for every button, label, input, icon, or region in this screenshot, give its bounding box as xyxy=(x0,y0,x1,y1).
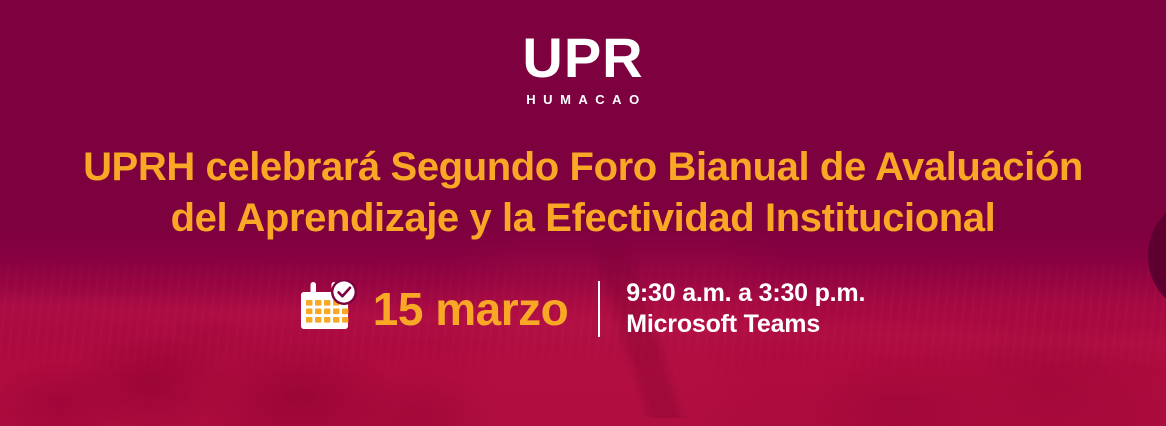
logo-campus-name: HUMACAO xyxy=(0,93,1166,106)
event-when-block: 9:30 a.m. a 3:30 p.m. Microsoft Teams xyxy=(626,278,865,339)
page-title: UPRH celebrará Segundo Foro Bianual de A… xyxy=(0,142,1166,244)
event-banner: UPR HUMACAO UPRH celebrará Segundo Foro … xyxy=(0,0,1166,426)
upr-humacao-logo: UPR HUMACAO xyxy=(0,30,1166,106)
event-date-block: 15 marzo xyxy=(301,280,568,337)
logo-wordmark: UPR xyxy=(0,30,1166,86)
event-time: 9:30 a.m. a 3:30 p.m. xyxy=(626,278,865,309)
event-platform: Microsoft Teams xyxy=(626,309,865,340)
details-divider xyxy=(598,281,600,337)
headline-line-1: UPRH celebrará Segundo Foro Bianual de A… xyxy=(0,142,1166,193)
headline-line-2: del Aprendizaje y la Efectividad Institu… xyxy=(0,193,1166,244)
calendar-clock-icon xyxy=(301,280,357,337)
event-date: 15 marzo xyxy=(373,286,568,332)
event-details: 15 marzo 9:30 a.m. a 3:30 p.m. Microsoft… xyxy=(0,278,1166,339)
